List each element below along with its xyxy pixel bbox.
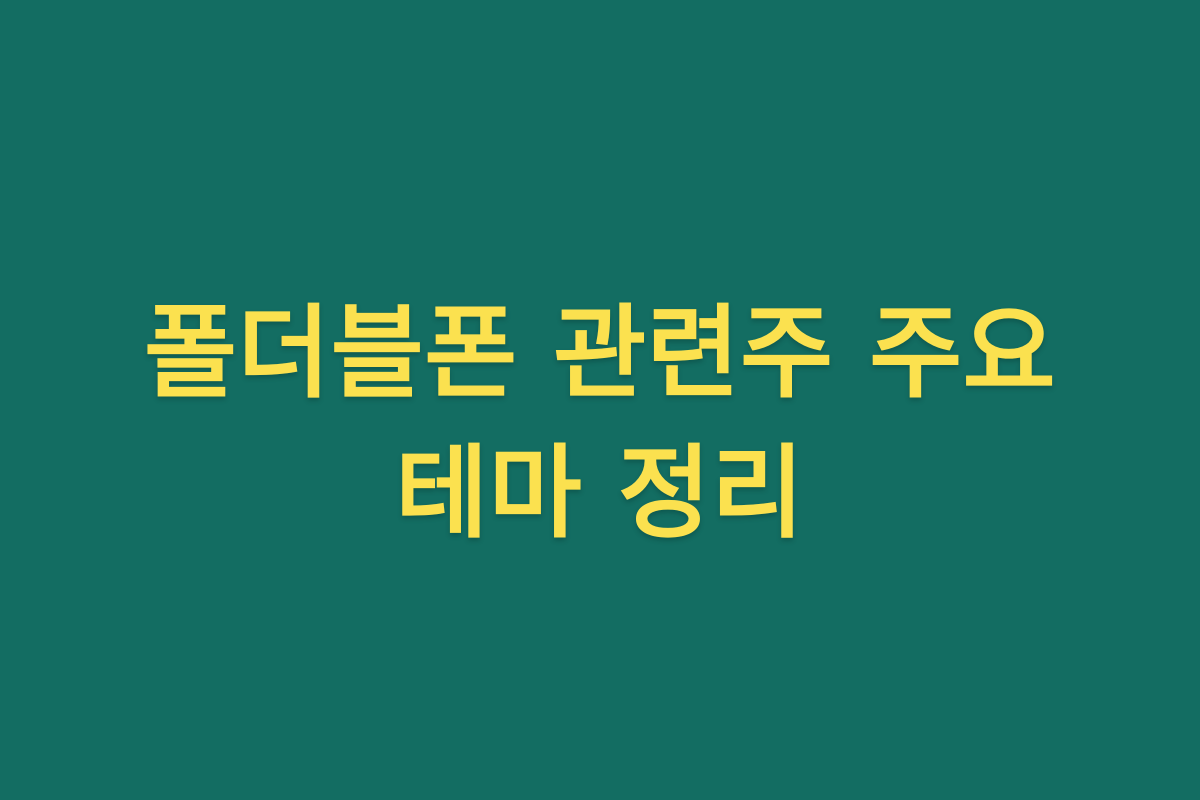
headline-block: 폴더블폰 관련주 주요 테마 정리 [0, 283, 1200, 563]
headline-line-1: 폴더블폰 관련주 주요 [24, 283, 1176, 423]
poster-canvas: 폴더블폰 관련주 주요 테마 정리 [0, 0, 1200, 800]
headline-line-2: 테마 정리 [24, 423, 1176, 563]
